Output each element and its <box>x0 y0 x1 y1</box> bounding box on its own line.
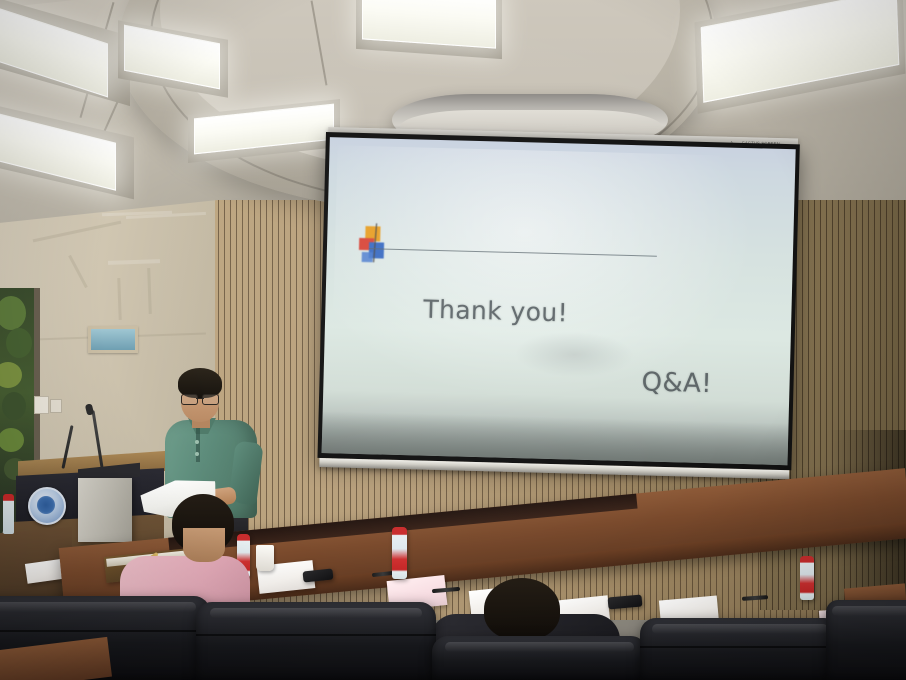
chair-2[interactable] <box>196 602 436 680</box>
lecture-room-photo: △ CACTUS SCREEN Thank you! Q&A! <box>0 0 906 680</box>
water-bottle-right[interactable] <box>800 556 814 600</box>
abstract-square-logo-icon <box>354 222 399 271</box>
light-switch-secondary[interactable] <box>50 399 62 413</box>
eyeglasses-icon <box>180 394 220 403</box>
chair-5[interactable] <box>826 600 906 680</box>
water-bottle-left[interactable] <box>3 494 14 534</box>
light-switch[interactable] <box>34 396 49 414</box>
projector-screen: Thank you! Q&A! <box>317 132 800 504</box>
paper-cup[interactable] <box>256 545 274 571</box>
attendee-left-neck <box>183 528 225 562</box>
chair-4[interactable] <box>640 618 840 680</box>
water-bottle-center[interactable] <box>392 527 407 579</box>
wall-plaque-blue <box>88 326 138 353</box>
attendee-right-hair <box>484 578 560 640</box>
desktop-pc-tower[interactable] <box>78 478 132 542</box>
slide-thank-you-text: Thank you! <box>423 295 568 328</box>
presenter-placket <box>196 428 200 462</box>
slide-divider-rule <box>369 248 657 257</box>
chair-3[interactable] <box>432 636 647 680</box>
slide-qa-text: Q&A! <box>641 367 712 399</box>
institution-emblem-icon <box>28 487 66 525</box>
projected-slide: Thank you! Q&A! <box>322 137 796 465</box>
